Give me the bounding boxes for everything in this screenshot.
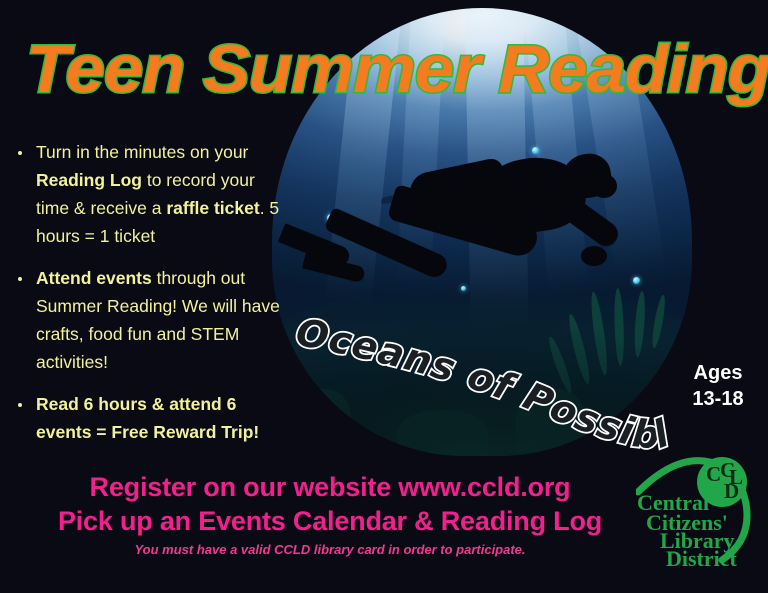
list-item: Attend events through out Summer Reading… bbox=[14, 264, 282, 376]
bullet-segment-bold: Attend events bbox=[36, 268, 152, 288]
footer-callout: Register on our website www.ccld.org Pic… bbox=[0, 470, 660, 557]
program-details-list: Turn in the minutes on your Reading Log … bbox=[14, 138, 282, 460]
coral-icon bbox=[398, 410, 488, 456]
list-item: Read 6 hours & attend 6 events = Free Re… bbox=[14, 390, 282, 446]
coral-icon bbox=[516, 388, 586, 452]
seaweed-icon bbox=[546, 335, 575, 394]
teen-summer-reading-flyer: Teen Summer Reading! Turn in the minutes… bbox=[0, 0, 768, 593]
page-title: Teen Summer Reading! bbox=[26, 30, 768, 108]
seabed-silhouette bbox=[272, 286, 692, 456]
coral-icon bbox=[297, 389, 351, 447]
ages-label: Ages bbox=[683, 360, 753, 386]
seaweed-icon bbox=[566, 313, 593, 385]
ccld-logo: C C L D Central Citizens' Library Distri… bbox=[636, 448, 762, 570]
bullet-segment: Turn in the minutes on your bbox=[36, 142, 248, 162]
age-range-callout: Ages 13-18 bbox=[683, 360, 753, 412]
scuba-diver-silhouette bbox=[395, 148, 645, 308]
pickup-line: Pick up an Events Calendar & Reading Log bbox=[0, 504, 660, 538]
ages-range: 13-18 bbox=[683, 386, 753, 412]
bullet-segment-bold: Reading Log bbox=[36, 170, 142, 190]
seaweed-icon bbox=[650, 295, 667, 350]
bullet-segment-bold: raffle ticket bbox=[166, 198, 259, 218]
bullet-segment-bold: Read 6 hours & attend 6 events = Free Re… bbox=[36, 394, 259, 442]
register-line: Register on our website www.ccld.org bbox=[0, 470, 660, 504]
disclaimer-text: You must have a valid CCLD library card … bbox=[0, 542, 660, 557]
logo-line-district: District bbox=[666, 546, 738, 570]
logo-monogram-d: D bbox=[724, 479, 739, 503]
list-item: Turn in the minutes on your Reading Log … bbox=[14, 138, 282, 250]
logo-monogram-c1: C bbox=[706, 462, 721, 486]
